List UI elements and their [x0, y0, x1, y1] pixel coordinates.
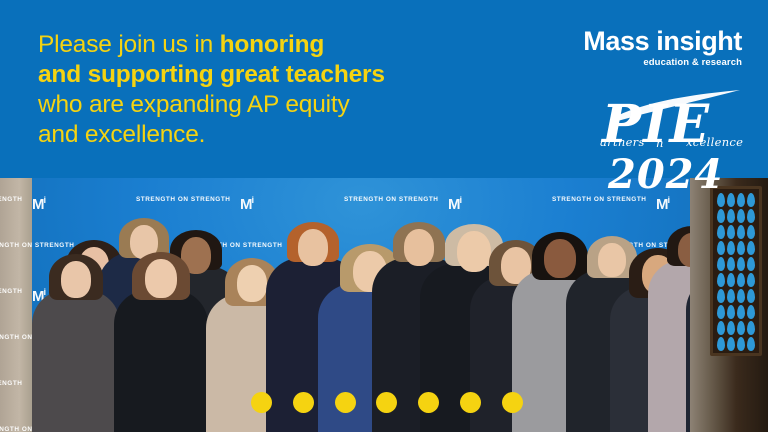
banner-canvas: STRENGTH ON STRENGTHMiSTRENGTH ON STRENG…: [0, 0, 768, 432]
panel-droplet: [727, 353, 735, 356]
panel-droplet: [717, 209, 725, 223]
panel-droplet: [717, 193, 725, 207]
panel-droplet: [727, 321, 735, 335]
organization-name: Mass insight: [583, 26, 742, 56]
panel-droplet: [717, 321, 725, 335]
panel-droplet: [737, 225, 745, 239]
mass-insight-logo: Mass insight education & research: [583, 26, 742, 68]
panel-droplet: [717, 305, 725, 319]
yellow-dot: [460, 392, 481, 413]
headline-part-bold-2: and supporting great teachers: [38, 61, 385, 88]
panel-droplet: [737, 321, 745, 335]
panel-droplet: [717, 273, 725, 287]
panel-droplet: [717, 289, 725, 303]
panel-droplet: [737, 337, 745, 351]
panel-droplet: [747, 321, 755, 335]
yellow-dot: [418, 392, 439, 413]
panel-droplet: [747, 273, 755, 287]
panel-droplet: [737, 273, 745, 287]
panel-droplet: [747, 337, 755, 351]
panel-droplet: [727, 193, 735, 207]
headline-text: Please join us in honoring and supportin…: [38, 30, 468, 150]
pie-subtitle-part-1: artners: [600, 135, 645, 149]
pie-subtitle-part-3: xcellence: [686, 135, 743, 149]
panel-droplet: [747, 257, 755, 271]
panel-droplet: [737, 193, 745, 207]
panel-droplet: [747, 193, 755, 207]
panel-droplet: [747, 225, 755, 239]
panel-droplet: [727, 289, 735, 303]
yellow-dot: [335, 392, 356, 413]
honoree-head: [145, 259, 177, 298]
panel-droplet: [727, 273, 735, 287]
honoree-head: [237, 265, 267, 302]
headline-part-bold-1: honoring: [220, 31, 325, 58]
pie-2024-script-logo: PIE artners n xcellence 2024: [594, 84, 744, 194]
panel-droplet: [737, 209, 745, 223]
panel-droplet: [737, 241, 745, 255]
organization-tagline: education & research: [583, 57, 742, 68]
yellow-dot: [251, 392, 272, 413]
yellow-dot: [376, 392, 397, 413]
yellow-dot-row: [0, 392, 768, 414]
headline-part-plain-4: and excellence.: [38, 121, 205, 148]
panel-droplet: [727, 257, 735, 271]
panel-droplet: [737, 353, 745, 356]
honoree-head: [61, 261, 91, 298]
panel-droplet: [737, 257, 745, 271]
pie-mark: PIE: [600, 94, 711, 155]
panel-droplet: [747, 353, 755, 356]
panel-droplet: [727, 241, 735, 255]
panel-droplet: [737, 289, 745, 303]
panel-droplet: [747, 209, 755, 223]
headline-band: Please join us in honoring and supportin…: [0, 0, 768, 178]
panel-droplet: [727, 337, 735, 351]
panel-droplet: [727, 225, 735, 239]
panel-droplet: [717, 353, 725, 356]
yellow-dot: [293, 392, 314, 413]
panel-droplet: [747, 289, 755, 303]
panel-droplet: [727, 209, 735, 223]
panel-droplet: [747, 241, 755, 255]
decorative-wall-panel: [710, 186, 762, 356]
panel-droplet: [717, 241, 725, 255]
yellow-dot: [502, 392, 523, 413]
panel-droplet: [717, 225, 725, 239]
headline-part-plain-1: Please join us in: [38, 31, 220, 58]
panel-droplet: [727, 305, 735, 319]
panel-droplet: [737, 305, 745, 319]
panel-droplet: [717, 257, 725, 271]
pie-subtitle-part-2: n: [656, 136, 664, 150]
panel-droplet: [717, 337, 725, 351]
panel-droplet: [747, 305, 755, 319]
headline-part-plain-3: who are expanding AP equity: [38, 91, 350, 118]
